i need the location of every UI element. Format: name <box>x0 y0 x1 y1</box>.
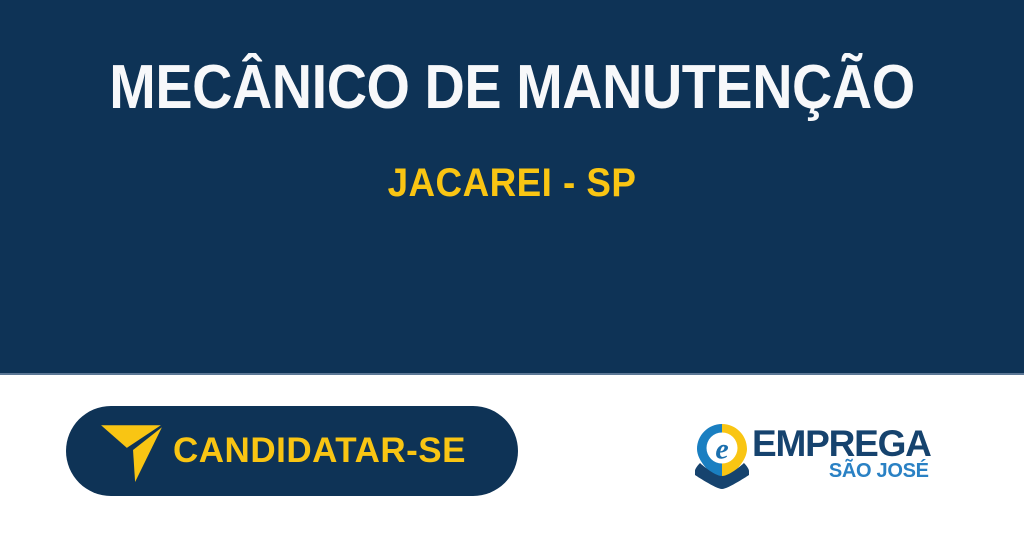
brand-logo: e EMPREGA SÃO JOSÉ <box>694 421 906 491</box>
apply-button-label: CANDIDATAR-SE <box>173 431 518 471</box>
brand-name: EMPREGA <box>752 425 931 462</box>
svg-text:e: e <box>715 433 728 466</box>
job-vacancy-card: MECÂNICO DE MANUTENÇÃO JACAREI - SP CAND… <box>0 0 1024 538</box>
footer-bar: CANDIDATAR-SE e EMPREGA SÃO JOSÉ <box>0 375 1024 538</box>
map-pin-e-icon: e <box>694 423 750 489</box>
page-title: MECÂNICO DE MANUTENÇÃO <box>51 54 973 122</box>
send-paper-plane-icon <box>99 418 165 484</box>
job-location-subtitle: JACAREI - SP <box>41 160 983 206</box>
hero-banner: MECÂNICO DE MANUTENÇÃO JACAREI - SP <box>0 0 1024 373</box>
apply-button[interactable]: CANDIDATAR-SE <box>66 406 518 496</box>
brand-wordmark: EMPREGA SÃO JOSÉ <box>752 421 931 482</box>
